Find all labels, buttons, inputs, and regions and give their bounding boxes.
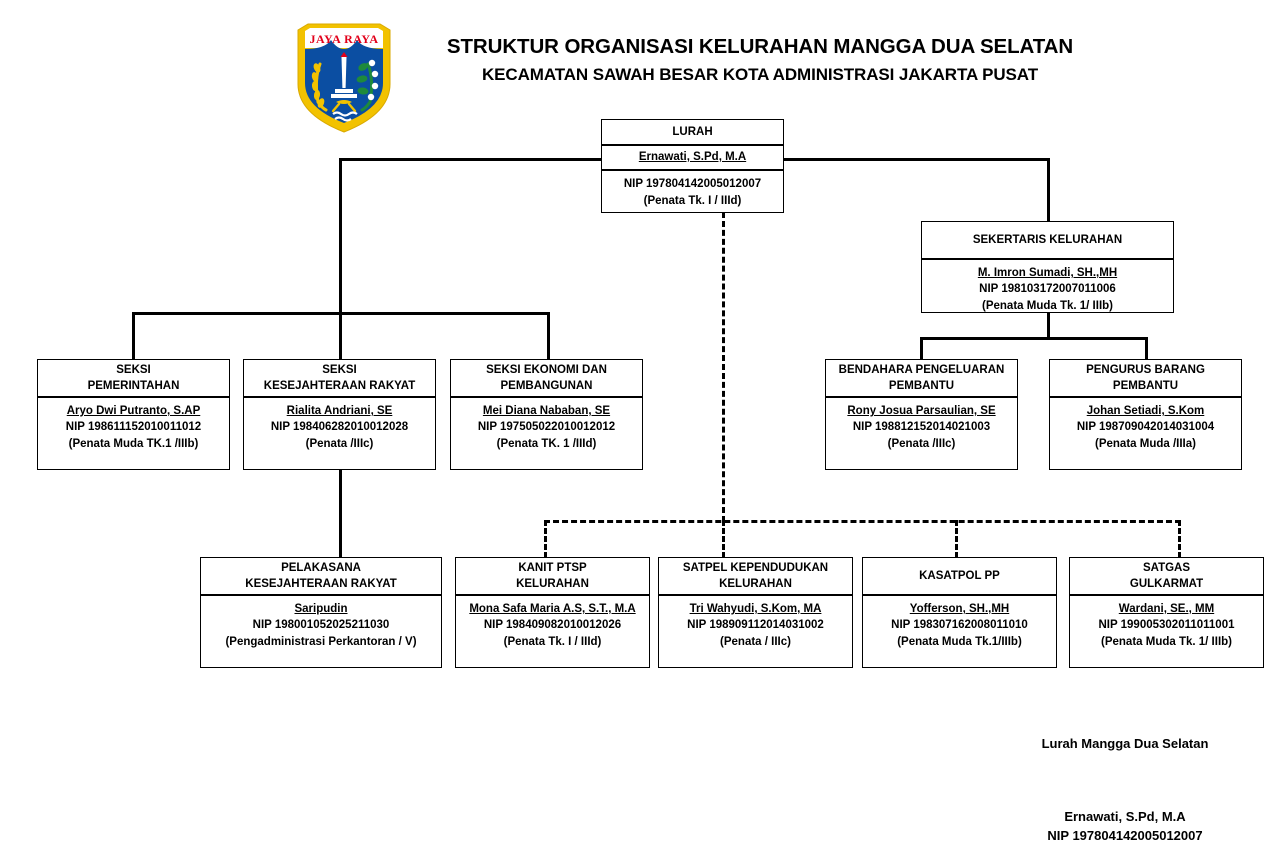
node-seksi-ekbang-title-line2: PEMBANGUNAN [486,378,607,394]
node-satgas-title-line1: SATGAS [1130,560,1203,576]
node-seksi-kesra-title: SEKSI KESEJAHTERAAN RAKYAT [244,360,435,398]
node-satpel-title-line2: KELURAHAN [683,576,828,592]
connector-drop-seksi-kesra [339,312,342,360]
chart-title-sub: KECAMATAN SAWAH BESAR KOTA ADMINISTRASI … [410,64,1110,86]
node-seksi-pemerintahan-title-line2: PEMERINTAHAN [88,378,180,394]
node-seksi-ekbang-nip: NIP 197505022010012012 [454,419,639,435]
node-satgas-gulkarmat[interactable]: SATGAS GULKARMAT Wardani, SE., MM NIP 19… [1069,557,1264,668]
node-pelaksana-kesejahteraan-rakyat[interactable]: PELAKASANA KESEJAHTERAAN RAKYAT Saripudi… [200,557,442,668]
node-pengurus-barang-title-line2: PEMBANTU [1086,378,1205,394]
node-lurah-detail: NIP 197804142005012007 (Penata Tk. I / I… [602,171,783,214]
node-kasatpol-rank: (Penata Muda Tk.1/IIIb) [866,634,1053,650]
node-lurah-title: LURAH [602,120,783,146]
connector-lurah-left-horizontal [339,158,603,161]
node-lurah-body: Ernawati, S.Pd, M.A [602,146,783,171]
node-seksi-kesra-title-line2: KESEJAHTERAAN RAKYAT [264,378,415,394]
node-seksi-pemerintahan-body: Aryo Dwi Putranto, S.AP NIP 198611152010… [38,398,229,457]
node-sekertaris-body: M. Imron Sumadi, SH.,MH NIP 198103172007… [922,260,1173,319]
node-sekertaris-rank: (Penata Muda Tk. 1/ IIIb) [925,298,1170,314]
node-seksi-ekbang-name: Mei Diana Nababan, SE [454,403,639,419]
node-seksi-pemerintahan-title: SEKSI PEMERINTAHAN [38,360,229,398]
node-satpel-name: Tri Wahyudi, S.Kom, MA [662,601,849,617]
node-satgas-name: Wardani, SE., MM [1073,601,1260,617]
node-seksi-kesra-nip: NIP 198406282010012028 [247,419,432,435]
node-pelaksana-kesra-title-line1: PELAKASANA [245,560,396,576]
node-satgas-title: SATGAS GULKARMAT [1070,558,1263,596]
node-bendahara-body: Rony Josua Parsaulian, SE NIP 1988121520… [826,398,1017,457]
node-satpel-title: SATPEL KEPENDUDUKAN KELURAHAN [659,558,852,596]
connector-sekertaris-bar [920,337,1148,340]
node-seksi-pemerintahan-title-line1: SEKSI [88,362,180,378]
node-bendahara-nip: NIP 198812152014021003 [829,419,1014,435]
node-kanit-ptsp-title-line2: KELURAHAN [516,576,589,592]
node-lurah-name: Ernawati, S.Pd, M.A [605,149,780,165]
node-sekertaris-name: M. Imron Sumadi, SH.,MH [925,265,1170,281]
signature-name: Ernawati, S.Pd, M.A [980,808,1270,827]
node-sekertaris-nip: NIP 198103172007011006 [925,281,1170,297]
connector-drop-pengurus-barang [1145,337,1148,360]
node-seksi-ekbang-rank: (Penata TK. 1 /IIId) [454,436,639,452]
node-bendahara-rank: (Penata /IIIc) [829,436,1014,452]
connector-dashed-bar [544,520,1181,523]
svg-text:JAYA RAYA: JAYA RAYA [309,32,378,46]
connector-drop-satgas-gulkarmat [1178,520,1181,558]
node-bendahara-name: Rony Josua Parsaulian, SE [829,403,1014,419]
connector-drop-kasatpol-pp [955,520,958,558]
node-pengurus-barang-pembantu[interactable]: PENGURUS BARANG PEMBANTU Johan Setiadi, … [1049,359,1242,470]
node-satgas-rank: (Penata Muda Tk. 1/ IIIb) [1073,634,1260,650]
node-kanit-ptsp-title: KANIT PTSP KELURAHAN [456,558,649,596]
node-kasatpol-body: Yofferson, SH.,MH NIP 198307162008011010… [863,596,1056,655]
node-pengurus-barang-title: PENGURUS BARANG PEMBANTU [1050,360,1241,398]
node-bendahara-pengeluaran-pembantu[interactable]: BENDAHARA PENGELUARAN PEMBANTU Rony Josu… [825,359,1018,470]
node-pelaksana-kesra-body: Saripudin NIP 198001052025211030 (Pengad… [201,596,441,655]
node-sekertaris-kelurahan[interactable]: SEKERTARIS KELURAHAN M. Imron Sumadi, SH… [921,221,1174,313]
node-kanit-ptsp-body: Mona Safa Maria A.S, S.T., M.A NIP 19840… [456,596,649,655]
node-kasatpol-title: KASATPOL PP [863,558,1056,596]
node-pelaksana-kesra-title-line2: KESEJAHTERAAN RAKYAT [245,576,396,592]
node-pelaksana-kesra-nip: NIP 198001052025211030 [204,617,438,633]
node-pengurus-barang-rank: (Penata Muda /IIIa) [1053,436,1238,452]
node-bendahara-title-line1: BENDAHARA PENGELUARAN [839,362,1005,378]
node-kasatpol-pp[interactable]: KASATPOL PP Yofferson, SH.,MH NIP 198307… [862,557,1057,668]
connector-lurah-left-vertical [339,158,342,315]
node-sekertaris-title: SEKERTARIS KELURAHAN [922,222,1173,260]
connector-kesra-to-pelaksana [339,470,342,558]
node-satpel-kependudukan-kelurahan[interactable]: SATPEL KEPENDUDUKAN KELURAHAN Tri Wahyud… [658,557,853,668]
node-seksi-pemerintahan-rank: (Penata Muda TK.1 /IIIb) [41,436,226,452]
node-seksi-ekbang-title-line1: SEKSI EKONOMI DAN [486,362,607,378]
node-seksi-kesra-body: Rialita Andriani, SE NIP 198406282010012… [244,398,435,457]
node-pelaksana-kesra-title: PELAKASANA KESEJAHTERAAN RAKYAT [201,558,441,596]
node-satpel-nip: NIP 198909112014031002 [662,617,849,633]
node-satpel-title-line1: SATPEL KEPENDUDUKAN [683,560,828,576]
connector-drop-satpel-kependudukan [722,520,725,558]
node-seksi-pemerintahan-nip: NIP 198611152010011012 [41,419,226,435]
node-seksi-pemerintahan-name: Aryo Dwi Putranto, S.AP [41,403,226,419]
connector-lurah-right-vertical [1047,158,1050,222]
node-pelaksana-kesra-name: Saripudin [204,601,438,617]
title-block: STRUKTUR ORGANISASI KELURAHAN MANGGA DUA… [410,34,1110,86]
node-kanit-ptsp-kelurahan[interactable]: KANIT PTSP KELURAHAN Mona Safa Maria A.S… [455,557,650,668]
node-seksi-ekbang-title: SEKSI EKONOMI DAN PEMBANGUNAN [451,360,642,398]
connector-drop-kanit-ptsp [544,520,547,558]
node-kasatpol-nip: NIP 198307162008011010 [866,617,1053,633]
jakarta-emblem-icon: JAYA RAYA [292,22,396,134]
org-chart-page: JAYA RAYA [0,0,1280,866]
node-satpel-body: Tri Wahyudi, S.Kom, MA NIP 1989091120140… [659,596,852,655]
node-pengurus-barang-title-line1: PENGURUS BARANG [1086,362,1205,378]
node-pengurus-barang-body: Johan Setiadi, S.Kom NIP 198709042014031… [1050,398,1241,457]
node-satgas-nip: NIP 199005302011011001 [1073,617,1260,633]
node-kanit-ptsp-title-line1: KANIT PTSP [516,560,589,576]
node-satpel-rank: (Penata / IIIc) [662,634,849,650]
node-bendahara-title: BENDAHARA PENGELUARAN PEMBANTU [826,360,1017,398]
signature-block: Lurah Mangga Dua Selatan Ernawati, S.Pd,… [980,735,1270,846]
node-pengurus-barang-nip: NIP 198709042014031004 [1053,419,1238,435]
node-seksi-kesra-rank: (Penata /IIIc) [247,436,432,452]
signature-role: Lurah Mangga Dua Selatan [980,735,1270,754]
connector-drop-seksi-pemerintahan [132,312,135,360]
node-seksi-pemerintahan[interactable]: SEKSI PEMERINTAHAN Aryo Dwi Putranto, S.… [37,359,230,470]
node-bendahara-title-line2: PEMBANTU [839,378,1005,394]
node-pelaksana-kesra-rank: (Pengadministrasi Perkantoran / V) [204,634,438,650]
connector-drop-bendahara [920,337,923,360]
node-satgas-title-line2: GULKARMAT [1130,576,1203,592]
node-seksi-kesra-name: Rialita Andriani, SE [247,403,432,419]
node-lurah-nip: NIP 197804142005012007 [605,176,780,192]
node-satgas-body: Wardani, SE., MM NIP 199005302011011001 … [1070,596,1263,655]
node-seksi-kesejahteraan-rakyat[interactable]: SEKSI KESEJAHTERAAN RAKYAT Rialita Andri… [243,359,436,470]
connector-lurah-right-horizontal [782,158,1050,161]
node-lurah[interactable]: LURAH Ernawati, S.Pd, M.A NIP 1978041420… [601,119,784,213]
signature-nip: NIP 197804142005012007 [980,827,1270,846]
node-kanit-ptsp-nip: NIP 198409082010012026 [459,617,646,633]
node-kanit-ptsp-name: Mona Safa Maria A.S, S.T., M.A [459,601,646,617]
node-kasatpol-title-line1: KASATPOL PP [919,568,1000,584]
node-seksi-ekbang-body: Mei Diana Nababan, SE NIP 19750502201001… [451,398,642,457]
connector-drop-seksi-ekbang [547,312,550,360]
connector-lurah-dashed-stem [722,212,725,522]
node-seksi-kesra-title-line1: SEKSI [264,362,415,378]
node-lurah-rank: (Penata Tk. I / IIId) [605,193,780,209]
node-seksi-ekonomi-pembangunan[interactable]: SEKSI EKONOMI DAN PEMBANGUNAN Mei Diana … [450,359,643,470]
chart-title-main: STRUKTUR ORGANISASI KELURAHAN MANGGA DUA… [410,34,1110,60]
node-pengurus-barang-name: Johan Setiadi, S.Kom [1053,403,1238,419]
node-kasatpol-name: Yofferson, SH.,MH [866,601,1053,617]
node-kanit-ptsp-rank: (Penata Tk. I / IIId) [459,634,646,650]
